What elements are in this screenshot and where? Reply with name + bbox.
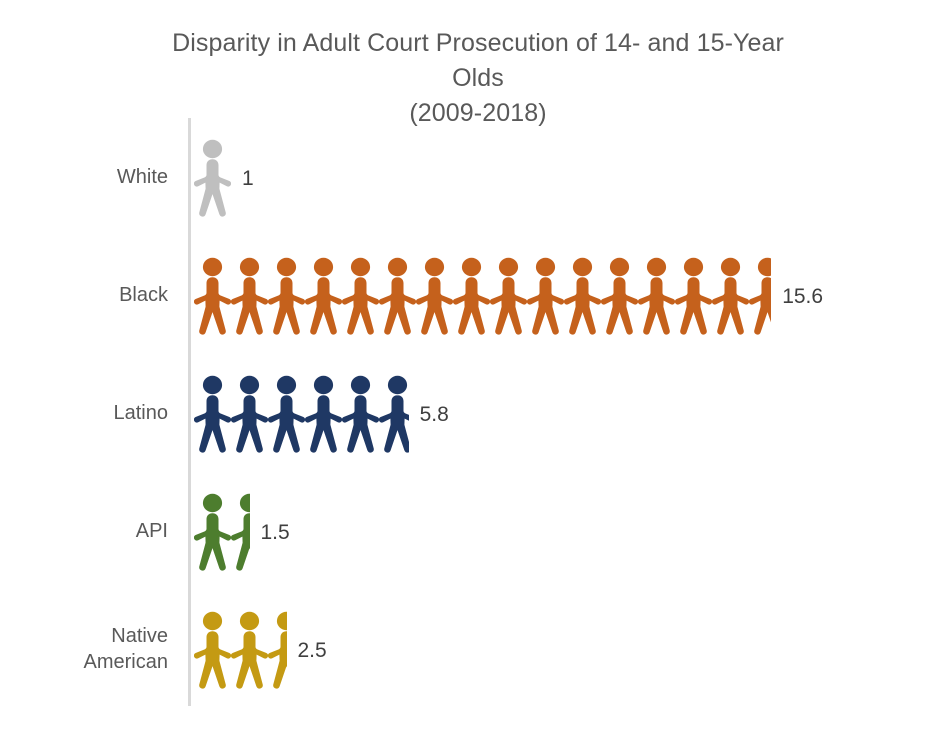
person-pictogram-icon	[379, 255, 416, 335]
person-pictogram-icon	[601, 255, 638, 335]
value-label: 1	[242, 168, 254, 189]
icon-row: 15.6	[194, 236, 823, 354]
icon-row: 1.5	[194, 472, 290, 590]
pictogram-row: White1	[0, 118, 946, 236]
person-pictogram-icon	[416, 255, 453, 335]
category-label: Black	[0, 236, 172, 354]
icon-row: 2.5	[194, 590, 327, 708]
chart-title-line-1: Disparity in Adult Court Prosecution of …	[113, 26, 843, 61]
person-pictogram-icon	[527, 255, 564, 335]
icon-strip	[194, 373, 409, 453]
value-label: 2.5	[298, 640, 327, 661]
icon-row: 1	[194, 118, 254, 236]
pictogram-row: Black15.6	[0, 236, 946, 354]
person-pictogram-icon	[638, 255, 675, 335]
value-label: 1.5	[261, 522, 290, 543]
person-pictogram-icon	[268, 255, 305, 335]
person-pictogram-icon	[675, 255, 712, 335]
person-pictogram-icon	[342, 373, 379, 453]
pictogram-row: Native American2.5	[0, 590, 946, 708]
person-pictogram-icon-partial	[749, 255, 771, 335]
person-pictogram-icon	[194, 491, 231, 571]
icon-strip	[194, 137, 231, 217]
person-pictogram-icon-partial	[379, 373, 409, 453]
icon-strip	[194, 491, 250, 571]
category-label: Native American	[0, 590, 172, 708]
value-label: 5.8	[420, 404, 449, 425]
pictogram-chart: Disparity in Adult Court Prosecution of …	[0, 0, 946, 744]
person-pictogram-icon	[712, 255, 749, 335]
person-pictogram-icon	[231, 255, 268, 335]
person-pictogram-icon	[305, 255, 342, 335]
person-pictogram-icon	[194, 255, 231, 335]
category-label: API	[0, 472, 172, 590]
icon-strip	[194, 255, 771, 335]
value-label: 15.6	[782, 286, 823, 307]
person-pictogram-icon	[194, 373, 231, 453]
pictogram-rows: White1Black15.6Latino5.8API1.5Native Ame…	[0, 118, 946, 706]
plot-area: White1Black15.6Latino5.8API1.5Native Ame…	[0, 118, 946, 708]
pictogram-row: API1.5	[0, 472, 946, 590]
person-pictogram-icon	[305, 373, 342, 453]
icon-strip	[194, 609, 287, 689]
category-label: Latino	[0, 354, 172, 472]
pictogram-row: Latino5.8	[0, 354, 946, 472]
category-label: White	[0, 118, 172, 236]
chart-title-line-2: Olds	[113, 61, 843, 96]
person-pictogram-icon	[231, 373, 268, 453]
icon-row: 5.8	[194, 354, 449, 472]
person-pictogram-icon	[453, 255, 490, 335]
person-pictogram-icon	[231, 609, 268, 689]
chart-title: Disparity in Adult Court Prosecution of …	[113, 26, 843, 131]
person-pictogram-icon	[194, 609, 231, 689]
person-pictogram-icon	[564, 255, 601, 335]
person-pictogram-icon-partial	[231, 491, 250, 571]
person-pictogram-icon	[194, 137, 231, 217]
person-pictogram-icon-partial	[268, 609, 287, 689]
person-pictogram-icon	[268, 373, 305, 453]
person-pictogram-icon	[342, 255, 379, 335]
person-pictogram-icon	[490, 255, 527, 335]
